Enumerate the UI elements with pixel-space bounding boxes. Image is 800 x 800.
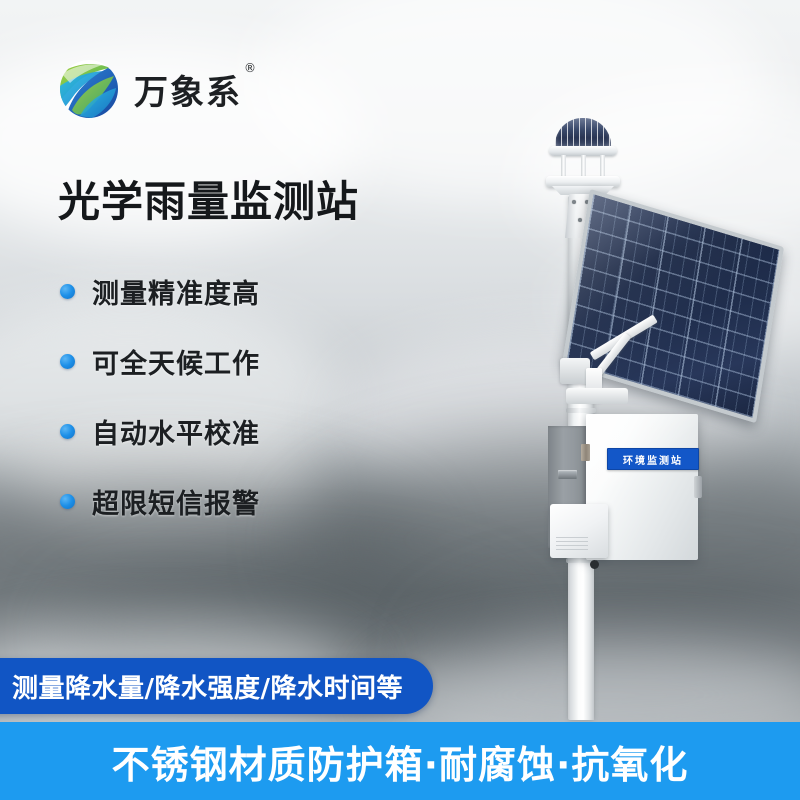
screw-icon xyxy=(572,200,576,204)
mast-pole-lower xyxy=(570,560,594,720)
feature-label: 自动水平校准 xyxy=(92,412,260,451)
sensor-post xyxy=(561,155,566,177)
page-title: 光学雨量监测站 xyxy=(58,168,359,229)
cabinet-label: 环境监测站 xyxy=(607,448,699,470)
trademark-icon: ® xyxy=(244,61,258,75)
feature-label: 超限短信报警 xyxy=(92,482,260,521)
globe-swoosh-logo-icon xyxy=(58,58,120,120)
cable-gland-icon xyxy=(590,560,599,569)
brand-logo: 万象系 ® xyxy=(58,58,242,120)
feature-label: 可全天候工作 xyxy=(92,342,260,381)
blue-dot-icon xyxy=(60,284,75,299)
blue-dot-icon xyxy=(60,494,75,509)
sensor-post xyxy=(600,155,605,177)
cabinet-vent-icon xyxy=(558,470,577,479)
control-cabinet-icon: 环境监测站 xyxy=(548,414,702,564)
feature-item: 测量精准度高 xyxy=(60,256,390,326)
feature-label: 测量精准度高 xyxy=(92,272,260,311)
feature-list: 测量精准度高 可全天候工作 自动水平校准 超限短信报警 xyxy=(60,256,390,536)
cabinet-hinge-icon xyxy=(581,444,590,461)
sensor-post xyxy=(581,155,586,177)
feature-item: 自动水平校准 xyxy=(60,396,390,466)
brand-name: 万象系 ® xyxy=(134,65,242,114)
battery-enclosure xyxy=(550,504,608,558)
bottom-banner: 不锈钢材质防护箱·耐腐蚀·抗氧化 xyxy=(0,722,800,800)
sensor-base-plate xyxy=(546,176,620,187)
feature-item: 可全天候工作 xyxy=(60,326,390,396)
mast-band xyxy=(566,408,596,413)
blue-dot-icon xyxy=(60,354,75,369)
cabinet-latch-icon xyxy=(694,476,702,498)
panel-mount-bracket-lower xyxy=(566,388,628,404)
pill-banner-text: 测量降水量/降水强度/降水时间等 xyxy=(12,668,403,705)
pill-banner: 测量降水量/降水强度/降水时间等 xyxy=(0,658,433,714)
bottom-banner-text: 不锈钢材质防护箱·耐腐蚀·抗氧化 xyxy=(112,734,689,789)
product-poster: 环境监测站 xyxy=(0,0,800,800)
brand-name-text: 万象系 xyxy=(134,73,242,113)
blue-dot-icon xyxy=(60,424,75,439)
feature-item: 超限短信报警 xyxy=(60,466,390,536)
